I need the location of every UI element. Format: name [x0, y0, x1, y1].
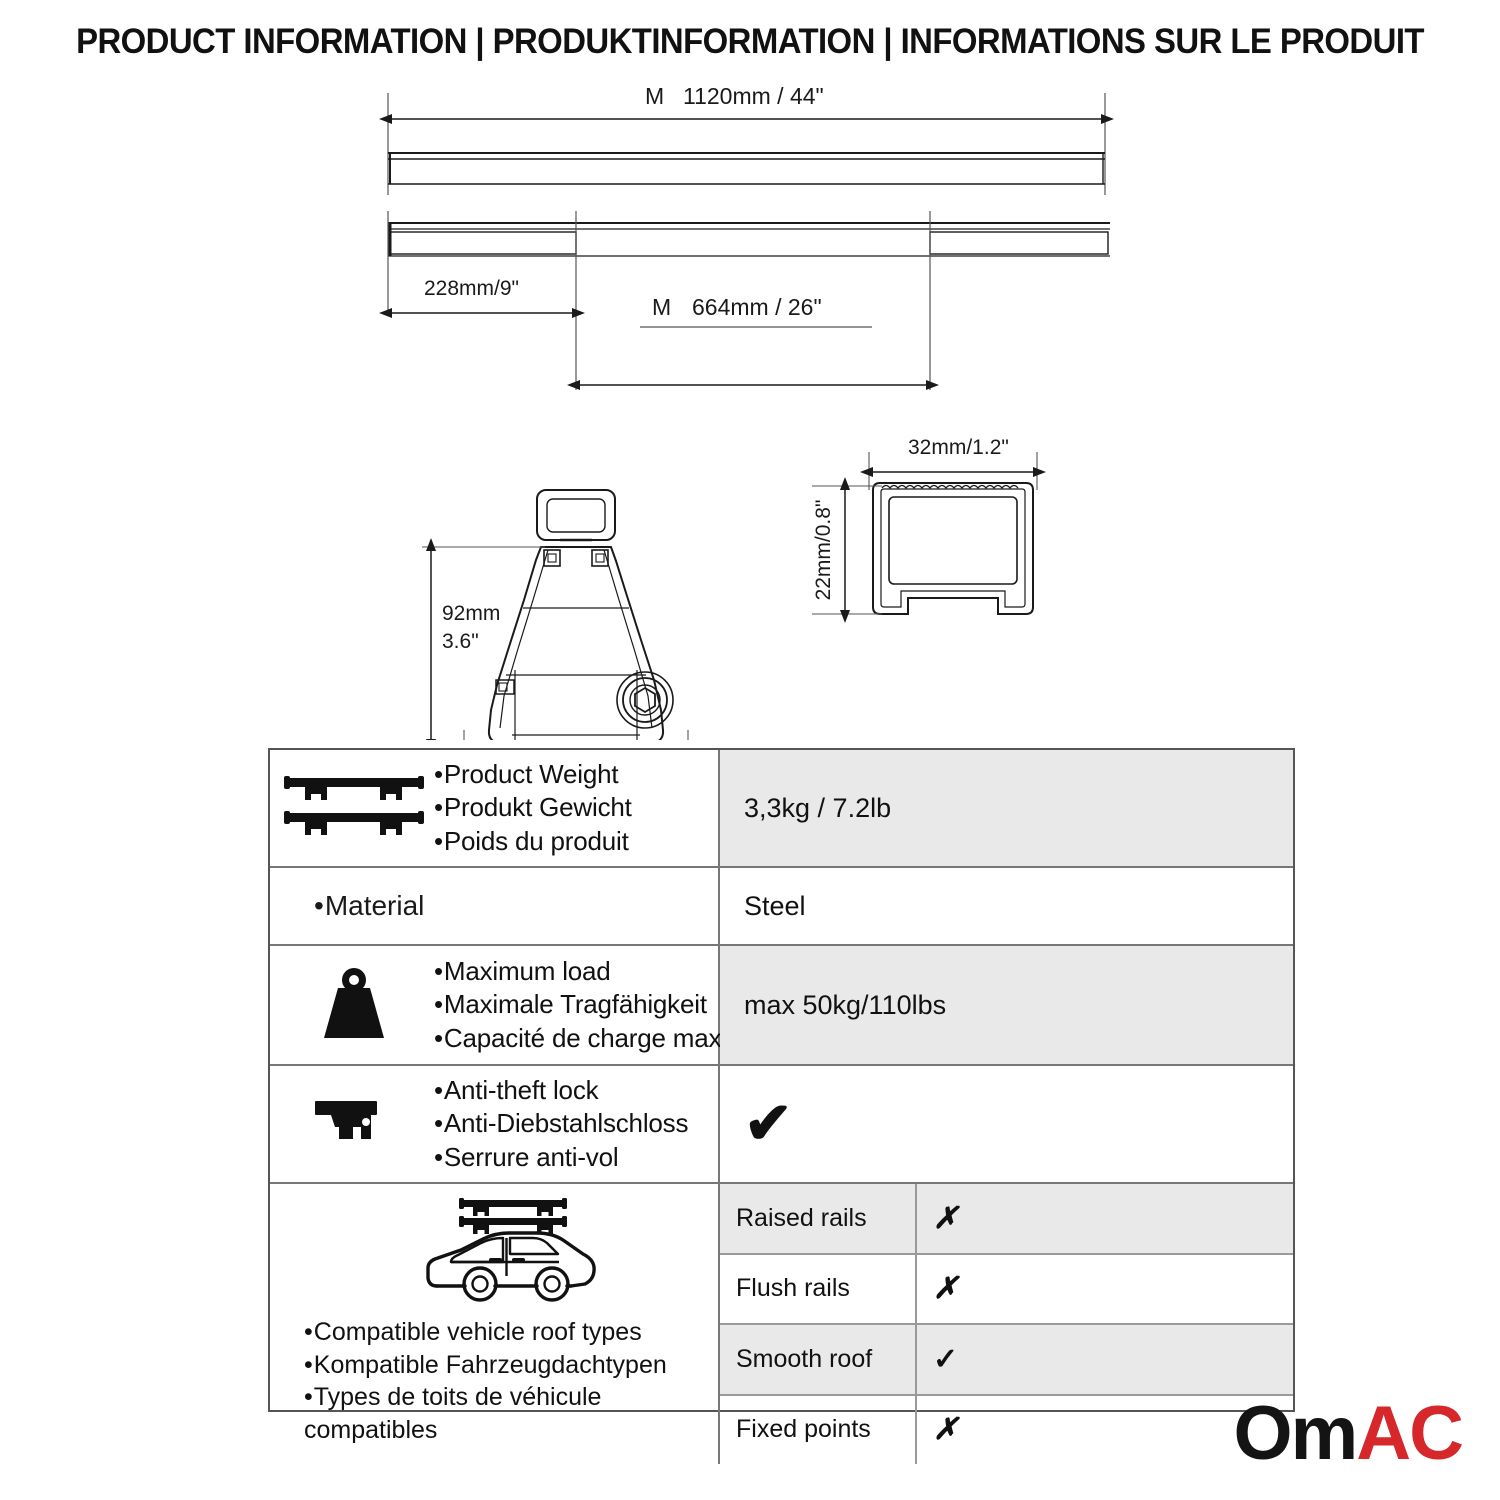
roof-bars-icon [274, 772, 434, 844]
foot-height-dim-in: 3.6" [442, 630, 479, 653]
roof-label-cell: •Compatible vehicle roof types •Kompatib… [270, 1184, 720, 1464]
row-value-maximum-load: max 50kg/110lbs [720, 946, 1293, 1064]
check-icon: ✔ [744, 1095, 793, 1153]
label-line-de: Produkt Gewicht [444, 792, 632, 822]
foot-offset-dim: 228mm/9" [424, 277, 519, 300]
row-label-text: •Anti-theft lock •Anti-Diebstahlschloss … [434, 1074, 688, 1174]
label-line-de: Maximale Tragfähigkeit [444, 989, 707, 1019]
table-row-material: •Material Steel [270, 868, 1293, 946]
label-line-en: Maximum load [444, 956, 611, 986]
technical-drawing: M 1120mm / 44" [0, 80, 1500, 740]
label-line-de: Anti-Diebstahlschloss [444, 1108, 688, 1138]
product-information-page: PRODUCT INFORMATION | PRODUKTINFORMATION… [0, 0, 1500, 1500]
label-line-en: Product Weight [444, 759, 618, 789]
table-row-maximum-load: •Maximum load •Maximale Tragfähigkeit •C… [270, 946, 1293, 1066]
cross-icon: ✗ [933, 1201, 958, 1236]
foot-height-dim: 92mm [442, 602, 500, 625]
roof-option-value: ✗ [917, 1184, 1293, 1253]
profile-width-dim: 32mm/1.2" [908, 436, 1009, 459]
drawing-svg: M 1120mm / 44" [0, 80, 1500, 740]
bar-length-prefix: M [645, 83, 664, 109]
check-icon: ✓ [933, 1342, 958, 1377]
table-row-product-weight: •Product Weight •Produkt Gewicht •Poids … [270, 750, 1293, 868]
row-label-cell: •Material [270, 868, 720, 944]
roof-label-text: •Compatible vehicle roof types •Kompatib… [304, 1316, 667, 1446]
cross-icon: ✗ [933, 1271, 958, 1306]
specification-table: •Product Weight •Produkt Gewicht •Poids … [268, 748, 1295, 1412]
roof-option-row: Fixed points ✗ [720, 1396, 1293, 1465]
roof-label-fr: Types de toits de véhicule [314, 1383, 602, 1411]
roof-option-name: Flush rails [720, 1255, 917, 1324]
roof-option-row: Smooth roof ✓ [720, 1325, 1293, 1396]
roof-label-de: Kompatible Fahrzeugdachtypen [314, 1351, 667, 1379]
profile-height-dim: 22mm/0.8" [812, 500, 835, 601]
roof-option-row: Flush rails ✗ [720, 1255, 1293, 1326]
lock-bar-icon [274, 1093, 434, 1155]
bar-length-dim: 1120mm / 44" [683, 83, 824, 109]
label-line-fr: Serrure anti-vol [444, 1142, 619, 1172]
label-line-material: Material [325, 890, 425, 922]
row-label-cell: •Maximum load •Maximale Tragfähigkeit •C… [270, 946, 720, 1064]
roof-option-name: Fixed points [720, 1396, 917, 1465]
logo-text-red: AC [1356, 1396, 1462, 1472]
roof-option-name: Smooth roof [720, 1325, 917, 1394]
omac-logo: OmAC [1234, 1396, 1462, 1472]
cross-icon: ✗ [933, 1412, 958, 1447]
label-line-fr: Poids du produit [444, 826, 629, 856]
row-label-cell: •Product Weight •Produkt Gewicht •Poids … [270, 750, 720, 866]
roof-option-row: Raised rails ✗ [720, 1184, 1293, 1255]
row-label-text: •Product Weight •Produkt Gewicht •Poids … [434, 758, 632, 858]
car-with-roof-bars-icon [304, 1192, 718, 1310]
row-label-cell: •Anti-theft lock •Anti-Diebstahlschloss … [270, 1066, 720, 1182]
spread-dim: 664mm / 26" [692, 294, 822, 320]
logo-text-dark: Om [1234, 1396, 1357, 1472]
table-row-anti-theft-lock: •Anti-theft lock •Anti-Diebstahlschloss … [270, 1066, 1293, 1184]
row-value-material: Steel [720, 868, 1293, 944]
label-line-en: Anti-theft lock [444, 1075, 599, 1105]
roof-option-value: ✓ [917, 1325, 1293, 1394]
roof-option-name: Raised rails [720, 1184, 917, 1253]
page-title: PRODUCT INFORMATION | PRODUKTINFORMATION… [45, 22, 1455, 62]
roof-label-en: Compatible vehicle roof types [314, 1318, 642, 1346]
table-row-roof-compatibility: •Compatible vehicle roof types •Kompatib… [270, 1184, 1293, 1464]
spread-prefix: M [652, 294, 671, 320]
roof-option-value: ✗ [917, 1255, 1293, 1324]
row-value-anti-theft-lock: ✔ [720, 1066, 1293, 1182]
roof-options-table: Raised rails ✗ Flush rails ✗ Smooth roof… [720, 1184, 1293, 1464]
row-value-product-weight: 3,3kg / 7.2lb [720, 750, 1293, 866]
roof-label-fr-cont: compatibles [304, 1416, 437, 1444]
weight-icon [274, 962, 434, 1048]
